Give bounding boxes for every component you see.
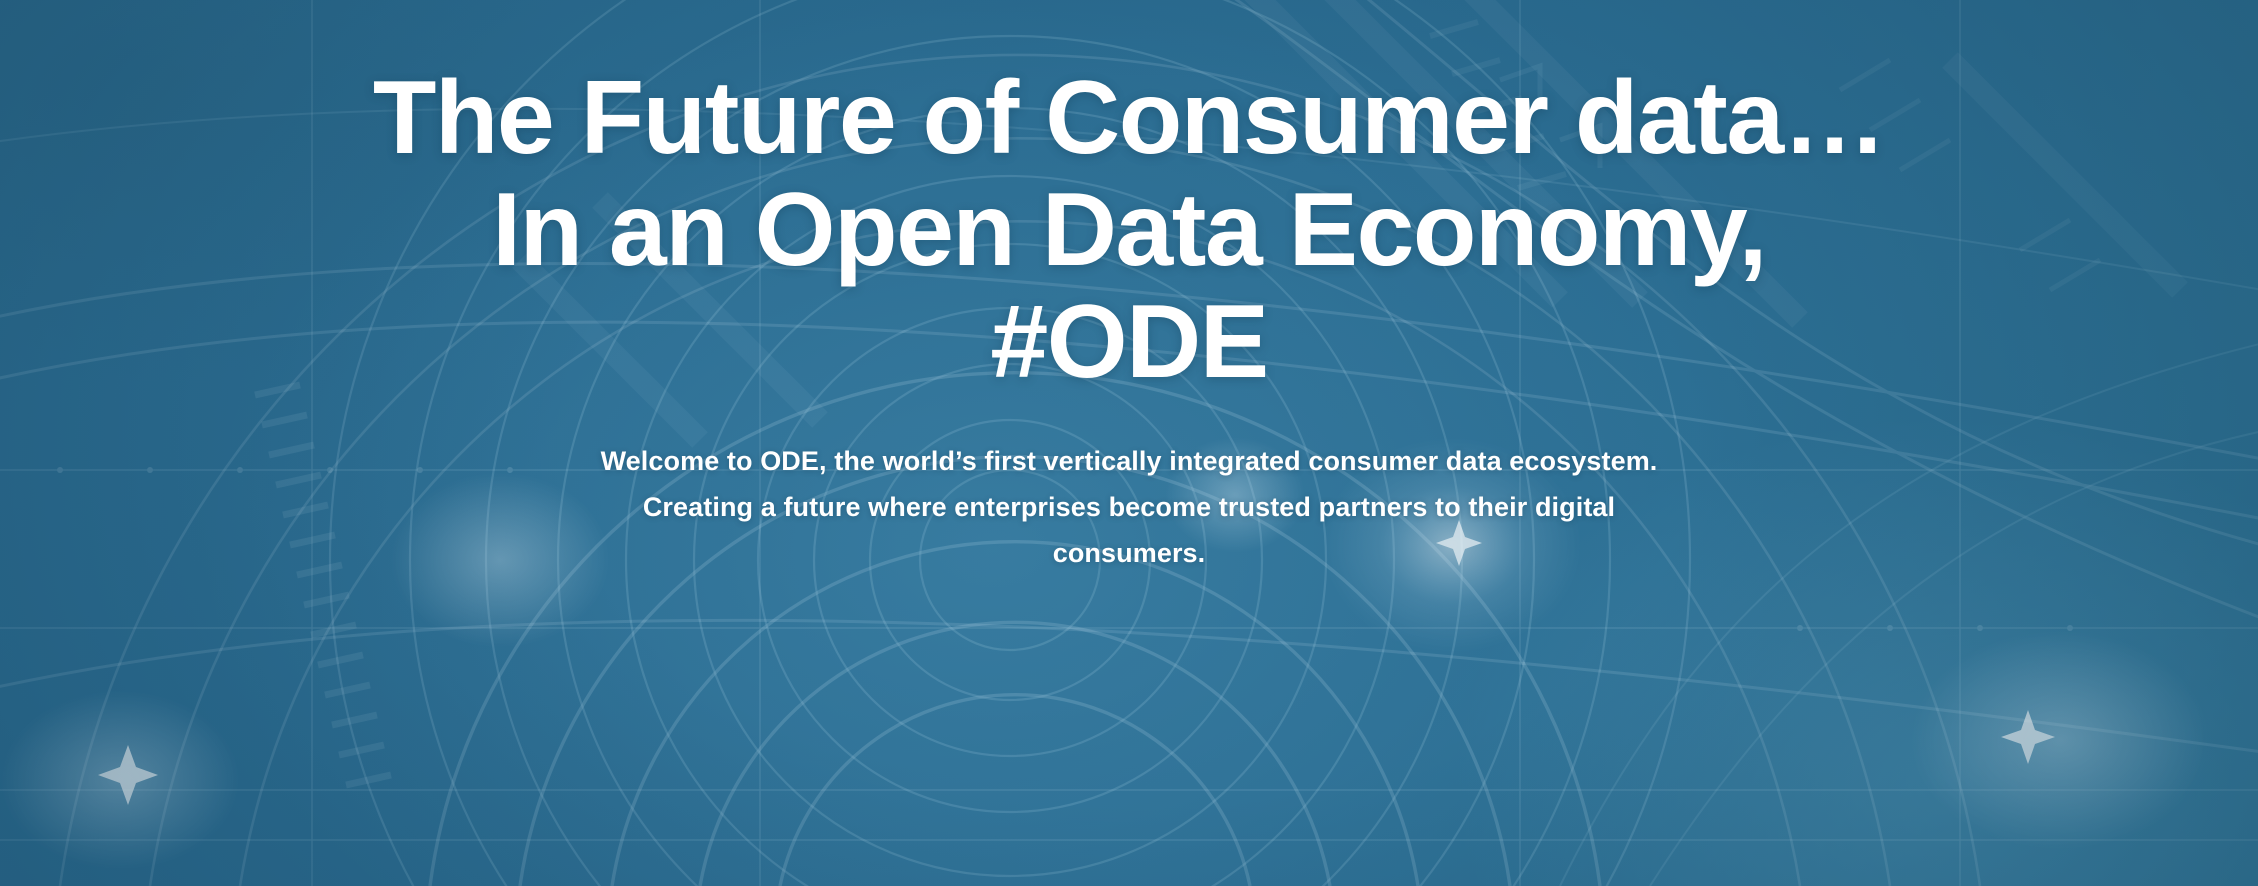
hero-subtitle: Welcome to ODE, the world’s first vertic… (514, 438, 1744, 576)
headline-line-3: #ODE (24, 286, 2234, 398)
hero-banner: The Future of Consumer data… In an Open … (0, 0, 2258, 886)
subtitle-line-3: consumers. (514, 530, 1744, 576)
headline-line-2: In an Open Data Economy, (24, 174, 2234, 286)
subtitle-line-1: Welcome to ODE, the world’s first vertic… (514, 438, 1744, 484)
headline-line-1: The Future of Consumer data… (24, 62, 2234, 174)
subtitle-line-2: Creating a future where enterprises beco… (514, 484, 1744, 530)
page-title: The Future of Consumer data… In an Open … (0, 62, 2258, 398)
hero-content: The Future of Consumer data… In an Open … (0, 0, 2258, 886)
